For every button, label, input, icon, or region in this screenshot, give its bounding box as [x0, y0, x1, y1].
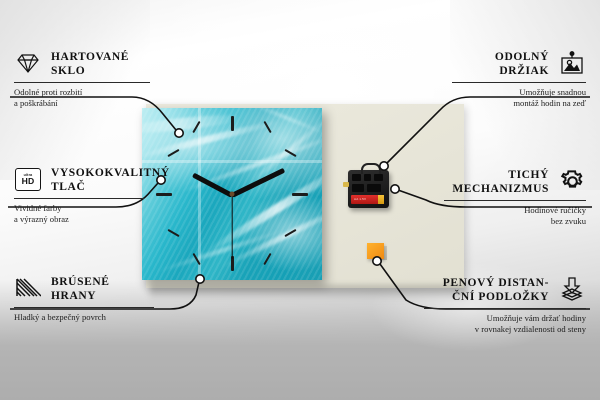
mechanism-battery: AA 1.5V: [351, 195, 383, 204]
mechanism-shaft: [343, 182, 349, 187]
feature-silent-mechanism: TICHÝ MECHANIZMUS Hodinové ručičky bez z…: [444, 168, 586, 227]
feature-hq-print: ultra HD VYSOKOKVALITNÝ TLAČ Vividné far…: [14, 166, 144, 225]
feature-title: TICHÝ MECHANIZMUS: [444, 168, 549, 196]
foam-spacer-icon: [558, 276, 586, 302]
ultra-hd-icon: ultra HD: [14, 166, 42, 192]
feature-description: Hodinové ručičky bez zvuku: [444, 205, 586, 227]
clock-mechanism: AA 1.5V: [348, 170, 389, 208]
divider: [424, 308, 586, 309]
battery-label: AA 1.5V: [354, 197, 366, 201]
clock-tick-3: [292, 193, 308, 196]
divider: [14, 82, 150, 83]
feature-beveled-edges: BRÚSENÉ HRANY Hladký a bezpečný povrch: [14, 275, 154, 323]
mechanism-slot: [367, 184, 381, 192]
feature-title: PENOVÝ DISTAN- ČNÍ PODLOŽKY: [424, 276, 549, 304]
clock-tick-12: [231, 116, 234, 131]
picture-hanger-icon: [558, 50, 586, 76]
wall-clock-face: [142, 108, 322, 280]
divider: [14, 307, 154, 308]
feature-description: Umožňuje vám držať hodiny v rovnakej vzd…: [424, 313, 586, 335]
mechanism-slot: [352, 184, 364, 192]
mechanism-slot: [364, 174, 371, 181]
clock-grid-horizontal: [142, 160, 322, 163]
divider: [452, 82, 586, 83]
foam-pad: [367, 243, 384, 259]
feature-title: HARTOVANÉ SKLO: [51, 50, 150, 78]
feature-description: Umožňuje snadnou montáž hodin na zeď: [452, 87, 586, 109]
clock-second-hand: [231, 195, 232, 259]
clock-center-pin: [230, 192, 235, 197]
feature-foam-spacers: PENOVÝ DISTAN- ČNÍ PODLOŽKY Umožňuje vám…: [424, 276, 586, 335]
feature-tempered-glass: HARTOVANÉ SKLO Odolné proti rozbití a po…: [14, 50, 150, 109]
beveled-edge-icon: [14, 275, 42, 301]
gear-icon: [558, 168, 586, 194]
backdrop-panel-shadow: [150, 285, 468, 301]
feature-description: Odolné proti rozbití a poškrábání: [14, 87, 150, 109]
mechanism-slot: [352, 174, 361, 181]
divider: [14, 198, 144, 199]
divider: [444, 200, 586, 201]
feature-description: Vividné farby a výrazný obraz: [14, 203, 144, 225]
mechanism-slot: [374, 174, 383, 181]
clock-grid-vertical: [198, 108, 201, 280]
feature-description: Hladký a bezpečný povrch: [14, 312, 154, 323]
feature-durable-hanger: ODOLNÝ DRŽIAK Umožňuje snadnou montáž ho…: [452, 50, 586, 109]
diamond-icon: [14, 50, 42, 76]
feature-title: ODOLNÝ DRŽIAK: [452, 50, 549, 78]
ultra-hd-main-label: HD: [22, 177, 35, 186]
infographic-canvas: AA 1.5V: [0, 0, 600, 400]
battery-terminal: [378, 195, 384, 204]
mechanism-hook: [361, 163, 381, 174]
feature-title: BRÚSENÉ HRANY: [51, 275, 154, 303]
feature-title: VYSOKOKVALITNÝ TLAČ: [51, 166, 170, 194]
